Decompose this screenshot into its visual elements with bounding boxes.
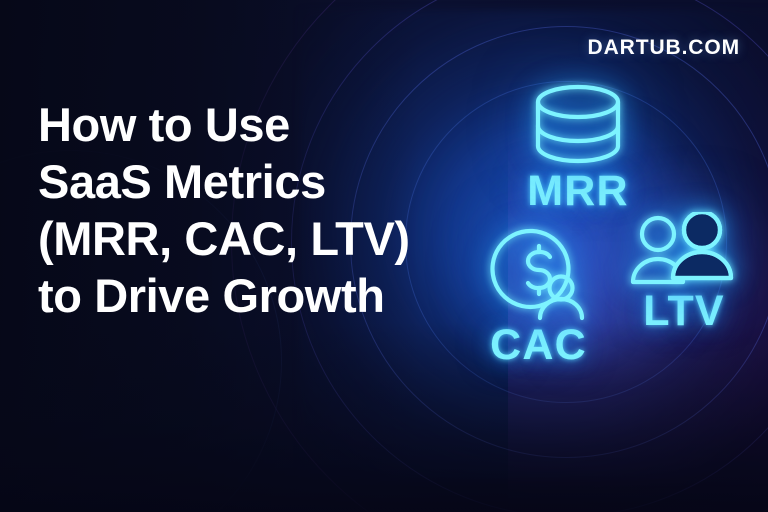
metric-ltv-label: LTV — [618, 288, 750, 334]
banner-canvas: DARTUB.COM How to Use SaaS Metrics (MRR,… — [0, 0, 768, 512]
site-logo: DARTUB.COM — [588, 36, 740, 60]
background-bottom-shade — [0, 322, 768, 512]
metric-mrr: MRR — [503, 82, 653, 214]
database-stack-icon — [522, 82, 634, 166]
dollar-coin-person-icon — [483, 226, 595, 326]
metric-mrr-icon-wrap — [503, 82, 653, 166]
metric-mrr-label: MRR — [503, 168, 653, 214]
metric-ltv: LTV — [618, 212, 750, 334]
title-line-1: How to Use — [38, 96, 428, 153]
page-title: How to Use SaaS Metrics (MRR, CAC, LTV) … — [38, 96, 428, 324]
metric-cac-icon-wrap — [466, 226, 611, 326]
metric-cac: CAC — [466, 226, 611, 368]
two-users-icon — [625, 212, 743, 288]
metric-ltv-icon-wrap — [618, 212, 750, 288]
title-line-4: to Drive Growth — [38, 267, 428, 324]
title-line-2: SaaS Metrics — [38, 153, 428, 210]
title-line-3: (MRR, CAC, LTV) — [38, 210, 428, 267]
metric-cac-label: CAC — [466, 322, 611, 368]
